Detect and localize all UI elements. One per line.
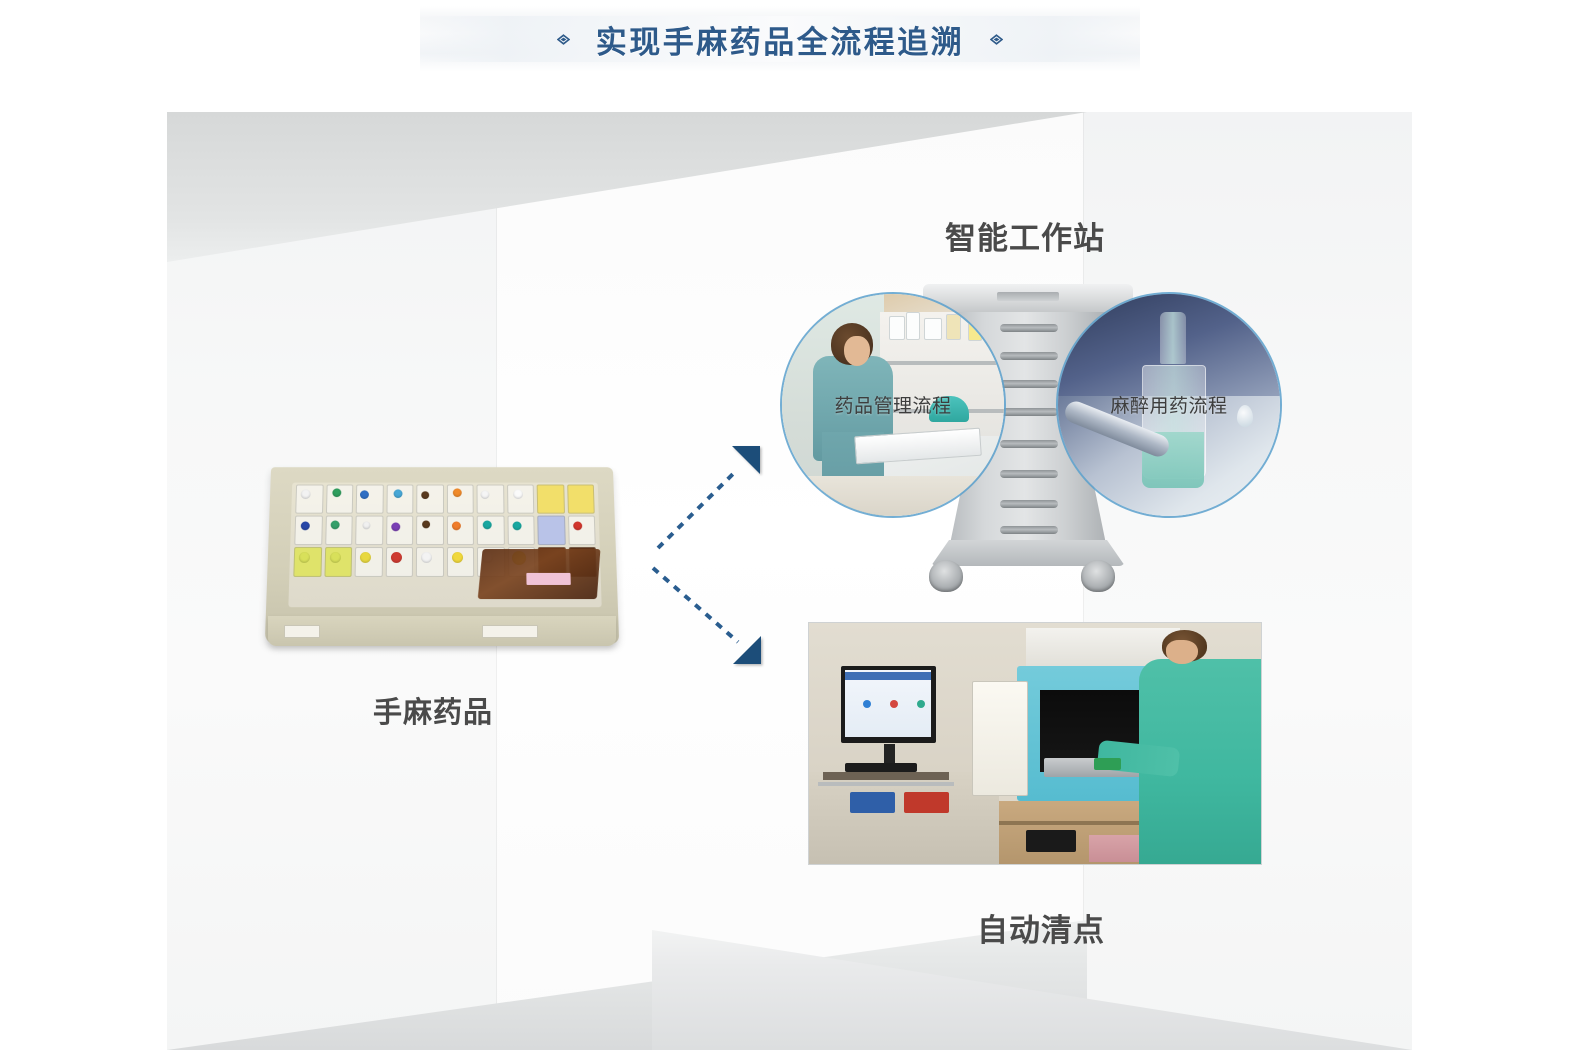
drug-tray-photo (262, 455, 622, 660)
cart-drawer-handle[interactable] (1000, 408, 1058, 416)
cart-drawer-handle[interactable] (1000, 324, 1058, 332)
cart-drawer-handle[interactable] (1000, 440, 1058, 448)
label-workstation: 智能工作站 (945, 213, 1105, 258)
page-title: 实现手麻药品全流程追溯 (596, 17, 965, 62)
cart-drawer-handle[interactable] (1000, 380, 1058, 388)
cart-drawer-handle[interactable] (1000, 500, 1058, 508)
tray-row (290, 516, 599, 545)
slide-canvas: 实现手麻药品全流程追溯 (0, 0, 1580, 1054)
tray-front-panel (268, 616, 616, 646)
label-drugs: 手麻药品 (373, 689, 493, 731)
circle-caption-drug-management: 药品管理流程 (782, 391, 1004, 418)
auto-count-photo (808, 622, 1262, 865)
cart-top-slot (997, 292, 1059, 301)
tray-row (291, 485, 598, 514)
diamond-icon-left (557, 33, 570, 46)
circle-drug-management[interactable]: 药品管理流程 (782, 294, 1004, 516)
cart-caster-left (929, 560, 963, 592)
workstation-group: 药品管理流程 麻醉用药流程 (780, 278, 1280, 598)
cart-drawer-handle[interactable] (1000, 470, 1058, 478)
diamond-icon-right (990, 33, 1003, 46)
cart-drawer-handle[interactable] (1000, 352, 1058, 360)
title-banner: 实现手麻药品全流程追溯 (420, 6, 1140, 72)
tray-label (482, 625, 538, 638)
circle-anesthesia-medication[interactable]: 麻醉用药流程 (1058, 294, 1280, 516)
arrow-to-workstation (658, 446, 760, 548)
arrow-to-autocount (653, 568, 761, 664)
circle-caption-anesthesia-medication: 麻醉用药流程 (1058, 391, 1280, 418)
cart-caster-right (1081, 560, 1115, 592)
label-autocount: 自动清点 (977, 905, 1105, 950)
tray-label (284, 625, 320, 638)
cart-drawer-handle[interactable] (1000, 526, 1058, 534)
tray-pink-tag (526, 573, 570, 585)
